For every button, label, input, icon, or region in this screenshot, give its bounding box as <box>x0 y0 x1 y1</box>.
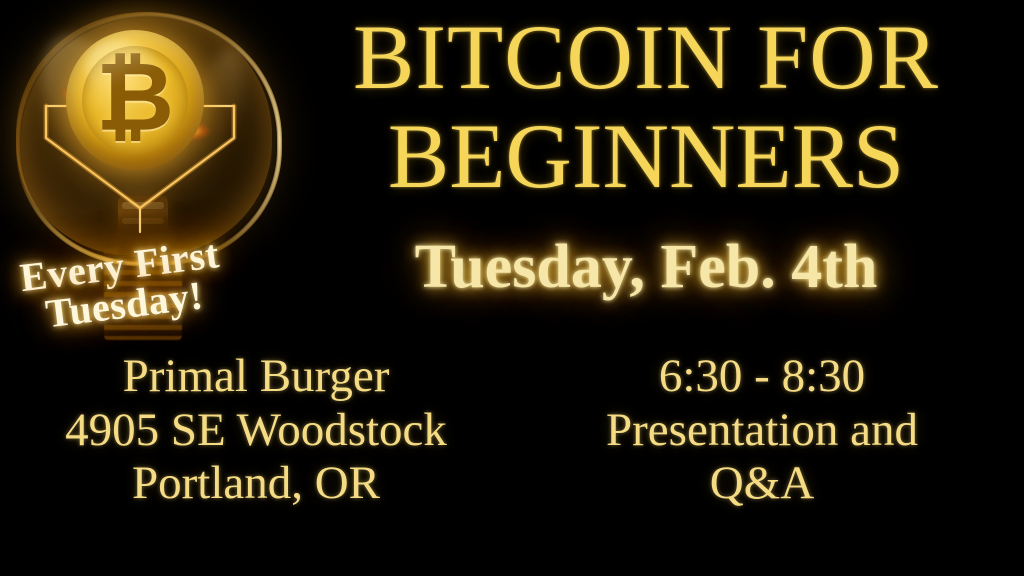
light-bulb-icon: ₿ <box>0 0 300 400</box>
venue-city-state: Portland, OR <box>0 457 512 511</box>
filament-flare-right-icon <box>168 122 210 140</box>
coin-face <box>82 46 188 154</box>
venue-name: Primal Burger <box>0 350 512 404</box>
coin-gloss <box>85 41 157 97</box>
coin-body <box>66 30 204 170</box>
event-time: 6:30 - 8:30 <box>512 350 1012 404</box>
venue-street: 4905 SE Woodstock <box>0 404 512 458</box>
schedule-format: Presentation and <box>512 404 1012 458</box>
page-title: BITCOIN FOR BEGINNERS <box>296 8 996 207</box>
bulb-glass-rim <box>16 12 282 266</box>
page-title-line1: BITCOIN FOR <box>296 8 996 107</box>
event-flyer: ₿ Every First Tuesday! BITCOIN FOR BEGIN… <box>0 0 1024 576</box>
bulb-highlight-right <box>183 45 252 177</box>
bulb-highlight-left <box>29 26 133 162</box>
bitcoin-symbol: ₿ <box>66 28 204 168</box>
filament-flare-left-icon <box>62 86 96 102</box>
schedule-block: 6:30 - 8:30 Presentation and Q&A <box>512 350 1012 511</box>
bulb-glow-halo <box>8 0 280 274</box>
venue-block: Primal Burger 4905 SE Woodstock Portland… <box>0 350 512 511</box>
bitcoin-coin-icon: ₿ <box>66 30 204 170</box>
page-title-line2: BEGINNERS <box>296 107 996 206</box>
bulb-glass-globe <box>16 12 272 256</box>
recurring-badge: Every First Tuesday! <box>2 232 242 338</box>
schedule-qa: Q&A <box>512 457 1012 511</box>
event-date: Tuesday, Feb. 4th <box>296 236 996 298</box>
coin-milled-rim <box>68 32 202 168</box>
filament-wire-icon <box>28 104 260 234</box>
